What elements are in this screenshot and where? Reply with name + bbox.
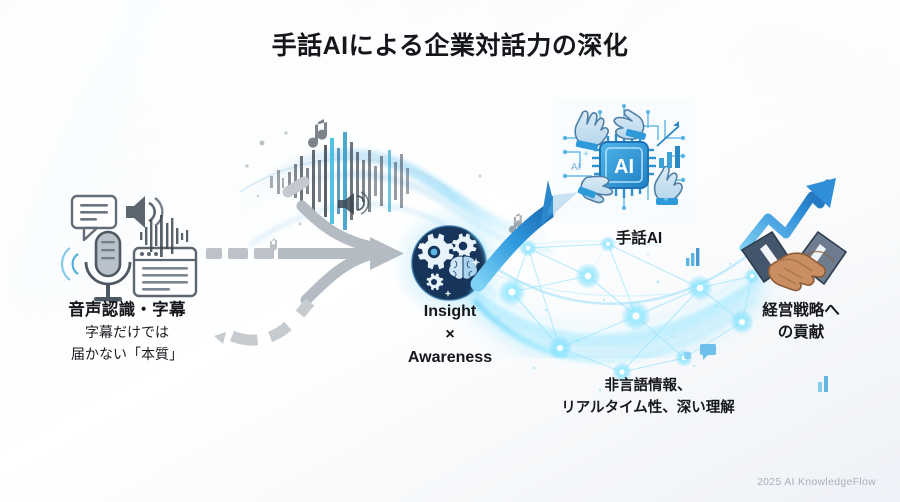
label-management-contribution: 経営戦略へ の貢献 (736, 300, 866, 344)
label-voice-recognition: 音声認識・字幕 字幕だけでは 届かない「本質」 (34, 296, 220, 365)
ai-chip-label: AI (614, 156, 634, 178)
label-voice-recognition-sub2: 届かない「本質」 (34, 345, 220, 364)
speaker-icon (126, 196, 162, 228)
label-voice-recognition-sub1: 字幕だけでは (34, 323, 220, 342)
footer-watermark: 2025 AI KnowledgeFlow (757, 476, 876, 488)
chat-bubble-icon-small (684, 344, 716, 360)
ai-small-label: AI (571, 162, 580, 173)
label-multiply-symbol: × (378, 323, 522, 346)
bar-chart-icon-accent (818, 376, 828, 392)
flow-arrow-gray (206, 182, 404, 300)
caption-line1: 非言語情報、 (518, 376, 778, 398)
label-sign-language-ai: 手話AI (568, 226, 710, 248)
label-insight-awareness: Insight × Awareness (378, 300, 522, 370)
outcome-illustration (742, 178, 846, 290)
feedback-loop-arrow (232, 302, 310, 340)
caption-nonverbal-info: 非言語情報、 リアルタイム性、深い理解 (518, 376, 778, 420)
infographic-canvas: 手話AIによる企業対話力の深化 (0, 0, 900, 502)
bar-chart-icon-small (686, 248, 699, 266)
label-insight: Insight (378, 300, 522, 323)
caption-line2: リアルタイム性、深い理解 (518, 398, 778, 420)
label-management-contribution-line1: 経営戦略へ (736, 300, 866, 322)
caption-window-icon (134, 248, 196, 296)
label-management-contribution-line2: の貢献 (736, 322, 866, 344)
label-sign-language-ai-title: 手話AI (568, 226, 710, 248)
label-voice-recognition-title: 音声認識・字幕 (34, 296, 220, 320)
brain-icon (449, 256, 478, 279)
label-awareness: Awareness (378, 346, 522, 369)
infographic-artwork: AI AI (0, 0, 900, 502)
ai-chip-illustration: AI AI (553, 100, 695, 224)
waveform-icon (270, 132, 409, 230)
